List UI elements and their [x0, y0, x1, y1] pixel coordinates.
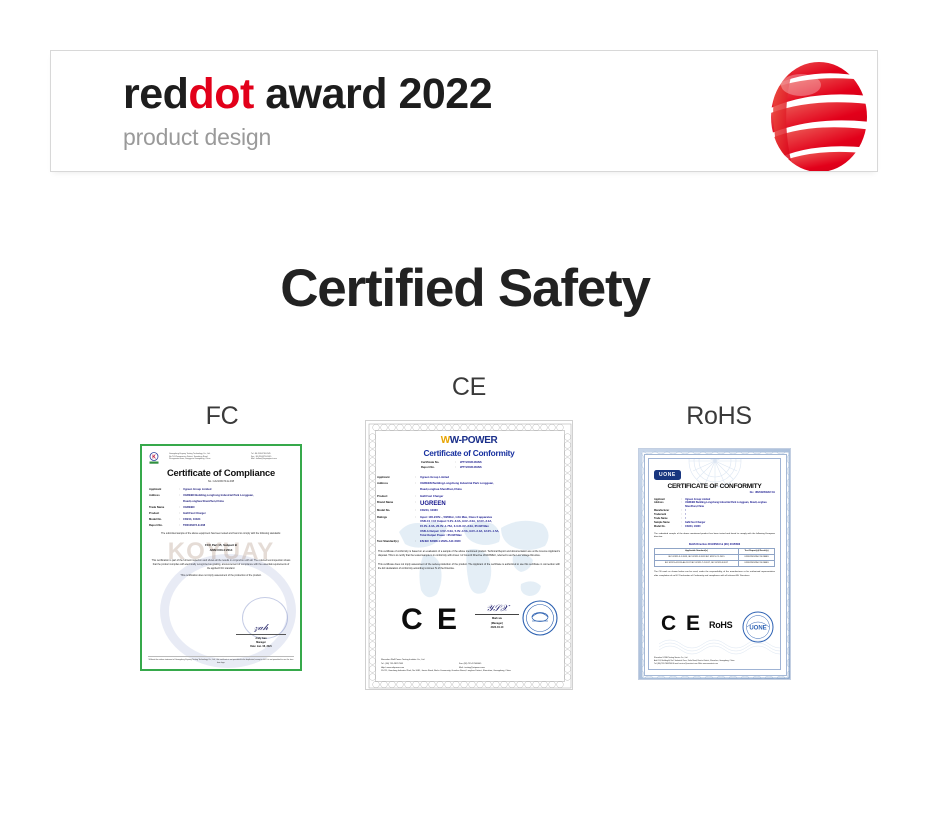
rohs-row-value: UGREEN Building,Longcheng Industrial Par…	[685, 501, 775, 509]
keyway-lab-logo-icon: K	[149, 451, 166, 463]
rohs-certificate-title: CERTIFICATE OF CONFORMITY	[654, 483, 775, 490]
fcc-lab-header: K Guangdong Keyway Testing Technology Co…	[149, 451, 293, 463]
table-row: Address:UGREEN Building,Longhong Industr…	[149, 494, 293, 498]
reddot-award-banner: reddot award 2022 product design	[50, 50, 878, 172]
ce-footer: Shenzhen Well Power Testing Institute Co…	[381, 659, 557, 674]
rohs-footer-contacts: Tel: (86)-755-23062906 E-mail: service@u…	[654, 663, 775, 666]
table-row: Model No.:CD244, 10330	[377, 509, 561, 514]
ce-row-value: GaN Fast Charger	[420, 495, 561, 500]
table-row: Road,Longhua ShenZhen,China	[149, 500, 293, 504]
fcc-certificate-title: Certificate of Compliance	[149, 467, 293, 478]
reddot-text-block: reddot award 2022 product design	[123, 69, 492, 153]
ce-conformity-mark-icon: C E	[661, 613, 702, 635]
fcc-row-key: Report No.	[149, 524, 179, 528]
page-title: Certified Safety	[0, 258, 930, 319]
fcc-row-key: Address	[149, 494, 179, 498]
fcc-detail-rows: Applicant:Ugreen Group Limited Address:U…	[149, 488, 293, 529]
ce-brand-name-value: UGREEN	[420, 501, 561, 508]
ce-row-value: UGREEN Building,Longcheng Industrial Par…	[420, 482, 561, 487]
rohs-cell-result: UR20220522HY-1E PASS	[739, 561, 775, 567]
fcc-row-value: UGREEN Building,Longhong Industrial Park…	[183, 494, 293, 498]
fcc-row-key: Applicant	[149, 488, 179, 492]
fcc-row-key: Product	[149, 512, 179, 516]
cert-label-rohs: RoHS	[638, 402, 800, 431]
fcc-signature-line	[236, 634, 286, 635]
rohs-standards-table: Applicable Standard(s) Test Report(s)/ R…	[654, 548, 775, 568]
rohs-row-key: Model No.	[654, 525, 681, 529]
rohs-inner-content: UONE CERTIFICATE OF CONFORMITY No.: UR20…	[648, 458, 781, 670]
table-row: Ratings : Input: 100-240V~, 50/60Hz, 1.6…	[377, 516, 561, 539]
reddot-sphere-logo-icon	[761, 57, 878, 172]
fcc-intro-paragraph: The submitted sample of the above equipm…	[151, 532, 291, 536]
cert-label-ce: CE	[365, 373, 573, 402]
ce-ratings-values: Input: 100-240V~, 50/60Hz, 1.6A Max, Cla…	[420, 516, 561, 539]
table-row: Product:GaN Fast Charger	[377, 495, 561, 500]
ce-body-paragraph-1: This certificate of conformity is based …	[378, 550, 560, 558]
fcc-footnote: Without the written statement of Guangdo…	[148, 656, 294, 665]
fcc-lab-address: Guangdong Keyway Testing Technology Co.,…	[169, 453, 248, 462]
rohs-row-key: Address	[654, 501, 681, 509]
reddot-title-dot-part: dot	[188, 70, 253, 118]
ce-round-stamp-icon	[522, 600, 558, 636]
table-row: Model No.:CD244, 10334	[149, 518, 293, 522]
ce-marks-row: C E 𝒴𝒮𝒳 Mark wu (Manager) 2022-04-10	[377, 604, 561, 638]
svg-text:K: K	[152, 454, 156, 460]
rohs-cell-standard: IEC 62321-4:2013+A1:2017 IEC 62321-7-2:2…	[655, 561, 739, 567]
reddot-subtitle: product design	[123, 122, 492, 153]
ce-detail-rows: Applicant:Ugreen Group Limited Address:U…	[377, 476, 561, 545]
ce-rating-line-5: Total Output Power : 65.0W Max	[420, 534, 561, 539]
wpower-logo: WW-POWER	[377, 436, 561, 446]
fcc-row-value: TR2106473-E-008	[183, 524, 293, 528]
fcc-row-value: CD244, 10334	[183, 518, 293, 522]
fcc-body-paragraph: This certification is part of the full t…	[151, 559, 291, 571]
table-row: Report No.:WTY22031481NS	[421, 466, 561, 471]
reddot-award-title: reddot award 2022	[123, 69, 492, 120]
ce-sign-date: 2022-04-10	[473, 626, 521, 631]
signature-icon: 𝓏𝒶𝒽	[232, 623, 290, 632]
rohs-footer: Shenzhen UONE Testing Service Co., Ltd. …	[654, 657, 775, 666]
fcc-lab-contacts: Tel : 86-769-8718-2345 Fax : 86-769-8718…	[251, 453, 293, 462]
ce-footer-address: 1D#21, Guanlong Industrial Park, No.1081…	[381, 670, 511, 674]
wpower-logo-text: W-POWER	[450, 435, 498, 446]
table-row: Trade Name:UGREEN	[149, 506, 293, 510]
ce-row-key: Product	[377, 495, 415, 500]
ce-test-standard-key: Test Standard(s)	[377, 540, 415, 545]
rohs-compliance-mark: RoHS	[709, 620, 732, 630]
fcc-row-key	[149, 500, 179, 504]
ce-row-value: Road,Longhua ShenZhen,China	[420, 488, 561, 493]
ce-row-key: Model No.	[377, 509, 415, 514]
fcc-standard-2: ANSI C63.4:2014	[149, 548, 293, 554]
ce-row-key: Address	[377, 482, 415, 487]
fcc-signature-block: 𝓏𝒶𝒽 Andy Gan Manager Date: Jun. 08, 2021	[232, 623, 290, 649]
certificate-image-ce: WW-POWER Certificate of Conformity Certi…	[365, 420, 573, 690]
fcc-lab-mail: Mail : hellow@keywaytest.com	[251, 458, 293, 461]
rohs-body-paragraph: The CE mark as shown below can be used, …	[654, 571, 775, 578]
ce-numbers-block: Certificate No.:WTY22031481NS Report No.…	[421, 461, 561, 471]
fcc-standards: FCC Part 15, Subpart B ANSI C63.4:2014	[149, 543, 293, 555]
table-row: Report No.:TR2106473-E-008	[149, 524, 293, 528]
certificate-image-fcc: KOYUAY K Guangdong Keyway Testing Techno…	[140, 444, 302, 671]
fcc-row-key: Trade Name	[149, 506, 179, 510]
rohs-round-stamp-icon: UONE	[742, 611, 774, 643]
ce-conformity-mark-icon: C E	[401, 604, 460, 636]
fcc-row-value: Ugreen Group Limited	[183, 488, 293, 492]
ce-row-key: Brand Name	[377, 501, 415, 508]
rohs-detail-rows: Applicant:Ugreen Group Limited Address:U…	[654, 498, 775, 529]
wpower-logo-w: W	[441, 435, 450, 446]
table-row: Road,Longhua ShenZhen,China	[377, 488, 561, 493]
fcc-note-paragraph: This certification does not imply assess…	[151, 574, 291, 578]
reddot-title-red-part: red	[123, 70, 188, 118]
fcc-row-key: Model No.	[149, 518, 179, 522]
ce-signature-block: 𝒴𝒮𝒳 Mark wu (Manager) 2022-04-10	[473, 604, 521, 631]
ce-certificate-title: Certificate of Conformity	[377, 448, 561, 458]
ce-ratings-key: Ratings	[377, 516, 415, 539]
table-row: Address:UGREEN Building,Longcheng Indust…	[654, 501, 775, 509]
table-row: Applicant:Ugreen Group Limited	[377, 476, 561, 481]
table-row: Product:GaN Fast Charger	[149, 512, 293, 516]
rohs-row-value: CD244, 10330	[685, 525, 775, 529]
signature-icon: 𝒴𝒮𝒳	[473, 604, 521, 613]
fcc-watermark-circle	[160, 554, 296, 668]
reddot-title-award-part: award 2022	[254, 70, 492, 118]
table-row: IEC 62321-4:2013+A1:2017 IEC 62321-7-2:2…	[655, 561, 775, 567]
certificate-image-rohs: UONE CERTIFICATE OF CONFORMITY No.: UR20…	[638, 448, 791, 680]
rohs-certificate-number: No.: UR20220522HY-1E	[654, 492, 775, 494]
fcc-sign-date: Date: Jun. 08, 2021	[232, 645, 290, 649]
rohs-marks-row: C E RoHS UONE	[649, 613, 780, 639]
fcc-row-value: Road,Longhua ShenZhen,China	[183, 500, 293, 504]
uone-badge: UONE	[654, 470, 681, 479]
table-row: Model No.:CD244, 10330	[654, 525, 775, 529]
ce-row-value: CD244, 10330	[420, 509, 561, 514]
ce-row-key: Applicant	[377, 476, 415, 481]
table-row: Address:UGREEN Building,Longcheng Indust…	[377, 482, 561, 487]
ce-signature-line	[475, 614, 519, 615]
rohs-directive: RoHS Directive 2011/65/EU & (EU) 2015/86…	[654, 543, 775, 546]
fcc-lab-address-line-3: Zhangmutou town, Dongguan Guangdong, Chi…	[169, 458, 248, 461]
ce-row-key	[377, 488, 415, 493]
table-row: Test Standard(s):EN IEC 62368-1:2020+A11…	[377, 540, 561, 545]
ce-body-paragraph-2: This certificate does not imply assessme…	[378, 563, 560, 571]
fcc-certificate-number: No. CA2106473-E-008	[149, 480, 293, 483]
ce-report-no-key: Report No.	[421, 466, 455, 471]
fcc-row-value: UGREEN	[183, 506, 293, 510]
ce-footer-line-4: 1D#21, Guanlong Industrial Park, No.1081…	[381, 670, 557, 674]
ce-report-no-value: WTY22031481NS	[460, 466, 482, 471]
rohs-intro-paragraph: The submitted sample of the above mentio…	[654, 533, 775, 540]
ce-test-standard-value: EN IEC 62368-1:2020+A11:2020	[420, 540, 561, 545]
ce-row-value: Ugreen Group Limited	[420, 476, 561, 481]
fcc-row-value: GaN Fast Charger	[183, 512, 293, 516]
table-row: Brand Name:UGREEN	[377, 501, 561, 508]
svg-text:UONE: UONE	[749, 626, 766, 632]
cert-label-fc: FC	[141, 402, 303, 431]
ce-inner-content: WW-POWER Certificate of Conformity Certi…	[377, 432, 561, 678]
table-row: Applicant:Ugreen Group Limited	[149, 488, 293, 492]
